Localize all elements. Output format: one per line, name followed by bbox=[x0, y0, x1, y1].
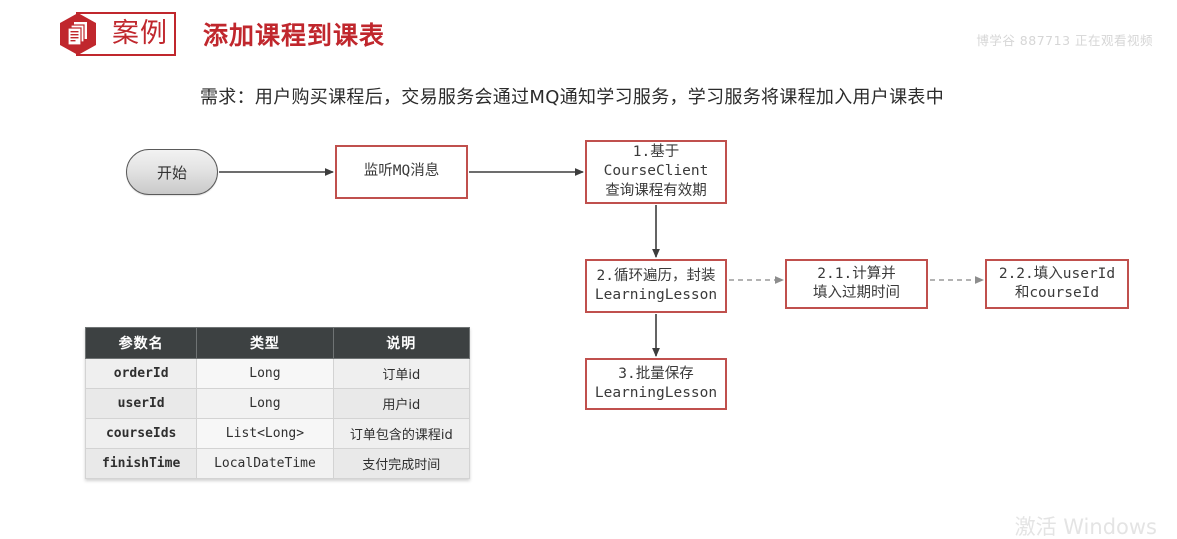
table-header-cell: 参数名 bbox=[86, 328, 197, 359]
flow-node-step-2-2[interactable]: 2.2.填入userId 和courseId bbox=[985, 259, 1129, 309]
table-cell-param: courseIds bbox=[86, 419, 197, 449]
table-cell-desc: 订单包含的课程id bbox=[333, 419, 469, 449]
table-cell-desc: 支付完成时间 bbox=[333, 449, 469, 479]
table-cell-param: orderId bbox=[86, 359, 197, 389]
slide-canvas: 案例 添加课程到课表 博学谷 887713 正在观看视频 需求：用户购买课程后，… bbox=[0, 0, 1177, 533]
table-header-row: 参数名 类型 说明 bbox=[86, 328, 470, 359]
table-row: courseIds List<Long> 订单包含的课程id bbox=[86, 419, 470, 449]
parameter-table: 参数名 类型 说明 orderId Long 订单id userId Long … bbox=[85, 327, 470, 479]
table-cell-param: userId bbox=[86, 389, 197, 419]
table-row: finishTime LocalDateTime 支付完成时间 bbox=[86, 449, 470, 479]
flow-node-step-2[interactable]: 2.循环遍历，封装 LearningLesson bbox=[585, 259, 727, 313]
table-cell-type: List<Long> bbox=[197, 419, 333, 449]
table-header-cell: 类型 bbox=[197, 328, 333, 359]
table-cell-type: LocalDateTime bbox=[197, 449, 333, 479]
windows-activation-line1: 激活 Windows bbox=[1015, 515, 1157, 539]
flow-node-step-1[interactable]: 1.基于 CourseClient 查询课程有效期 bbox=[585, 140, 727, 204]
table-cell-type: Long bbox=[197, 389, 333, 419]
table-cell-type: Long bbox=[197, 359, 333, 389]
table-cell-desc: 订单id bbox=[333, 359, 469, 389]
table-cell-desc: 用户id bbox=[333, 389, 469, 419]
windows-activation-watermark: 激活 Windows bbox=[1015, 515, 1157, 539]
flow-node-listen-mq[interactable]: 监听MQ消息 bbox=[335, 145, 468, 199]
table-row: orderId Long 订单id bbox=[86, 359, 470, 389]
flow-node-step-2-1[interactable]: 2.1.计算并 填入过期时间 bbox=[785, 259, 928, 309]
table-header-cell: 说明 bbox=[333, 328, 469, 359]
table-row: userId Long 用户id bbox=[86, 389, 470, 419]
flow-node-step-3[interactable]: 3.批量保存 LearningLesson bbox=[585, 358, 727, 410]
flow-node-start[interactable]: 开始 bbox=[126, 149, 218, 195]
table-cell-param: finishTime bbox=[86, 449, 197, 479]
